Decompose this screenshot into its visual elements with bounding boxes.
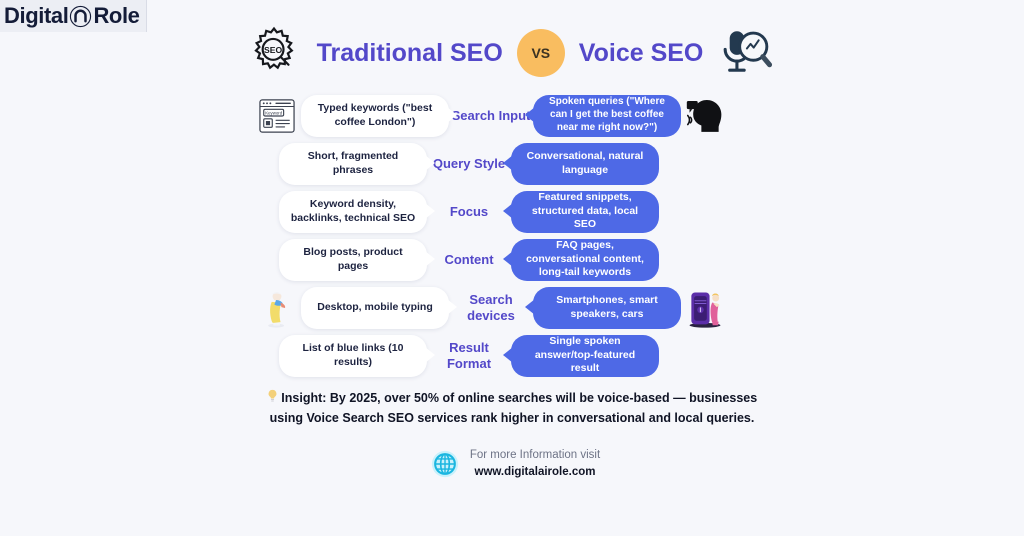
header: SEO Traditional SEO VS Voice SEO — [230, 18, 790, 88]
traditional-seo-title: Traditional SEO — [317, 39, 503, 68]
traditional-bubble: Short, fragmented phrases — [279, 143, 427, 185]
footer-prompt: For more Information visit — [470, 447, 600, 464]
vs-badge: VS — [517, 29, 565, 77]
brand-name-second: Role — [93, 5, 139, 27]
svg-text:Keyword: Keyword — [265, 110, 282, 115]
voice-bubble: FAQ pages, conversational content, long-… — [511, 239, 659, 281]
insight-body: Insight: By 2025, over 50% of online sea… — [270, 391, 758, 425]
voice-bubble: Featured snippets, structured data, loca… — [511, 191, 659, 233]
globe-icon — [430, 449, 460, 479]
microphone-magnifier-icon — [717, 24, 775, 82]
voice-bubble: Conversational, natural language — [511, 143, 659, 185]
brand-name-first: Digital — [4, 5, 68, 27]
footer-text: For more Information visit www.digitalai… — [470, 447, 600, 480]
comparison-rows: Keyword Typed keywords ("best coffee Lon… — [255, 92, 785, 380]
comparison-row: Keyword density, backlinks, technical SE… — [255, 188, 785, 235]
seo-gear-magnifier-icon: SEO — [245, 24, 303, 82]
voice-bubble: Smartphones, smart speakers, cars — [533, 287, 681, 329]
speaking-head-icon — [683, 94, 727, 138]
browser-keyword-page-icon: Keyword — [255, 94, 299, 138]
row-label: Result Format — [427, 340, 511, 371]
row-label: Query Style — [427, 156, 511, 171]
comparison-row: Short, fragmented phrases Query Style Co… — [255, 140, 785, 187]
traditional-bubble: List of blue links (10 results) — [279, 335, 427, 377]
traditional-bubble: Typed keywords ("best coffee London") — [301, 95, 449, 137]
arch-circle-icon — [69, 5, 92, 28]
footer: For more Information visit www.digitalai… — [330, 447, 700, 480]
person-typing-illustration-icon — [255, 286, 299, 330]
insight-text: Insight: By 2025, over 50% of online sea… — [262, 388, 762, 429]
footer-url[interactable]: www.digitalairole.com — [470, 464, 600, 481]
traditional-bubble: Keyword density, backlinks, technical SE… — [279, 191, 427, 233]
comparison-row: List of blue links (10 results) Result F… — [255, 332, 785, 379]
lightbulb-icon — [267, 389, 278, 403]
brand-logo: Digital Role — [0, 0, 147, 32]
voice-bubble: Single spoken answer/top-featured result — [511, 335, 659, 377]
comparison-row: Blog posts, product pages Content FAQ pa… — [255, 236, 785, 283]
row-label: Search devices — [449, 292, 533, 323]
comparison-row: Keyword Typed keywords ("best coffee Lon… — [255, 92, 785, 139]
traditional-bubble: Blog posts, product pages — [279, 239, 427, 281]
voice-seo-title: Voice SEO — [579, 39, 704, 68]
traditional-bubble: Desktop, mobile typing — [301, 287, 449, 329]
svg-text:SEO: SEO — [264, 45, 282, 55]
row-label: Search Input — [449, 108, 533, 123]
smart-speaker-person-illustration-icon — [683, 286, 727, 330]
row-label: Focus — [427, 204, 511, 219]
voice-bubble: Spoken queries ("Where can I get the bes… — [533, 95, 681, 137]
comparison-row: Desktop, mobile typing Search devices Sm… — [255, 284, 785, 331]
row-label: Content — [427, 252, 511, 267]
